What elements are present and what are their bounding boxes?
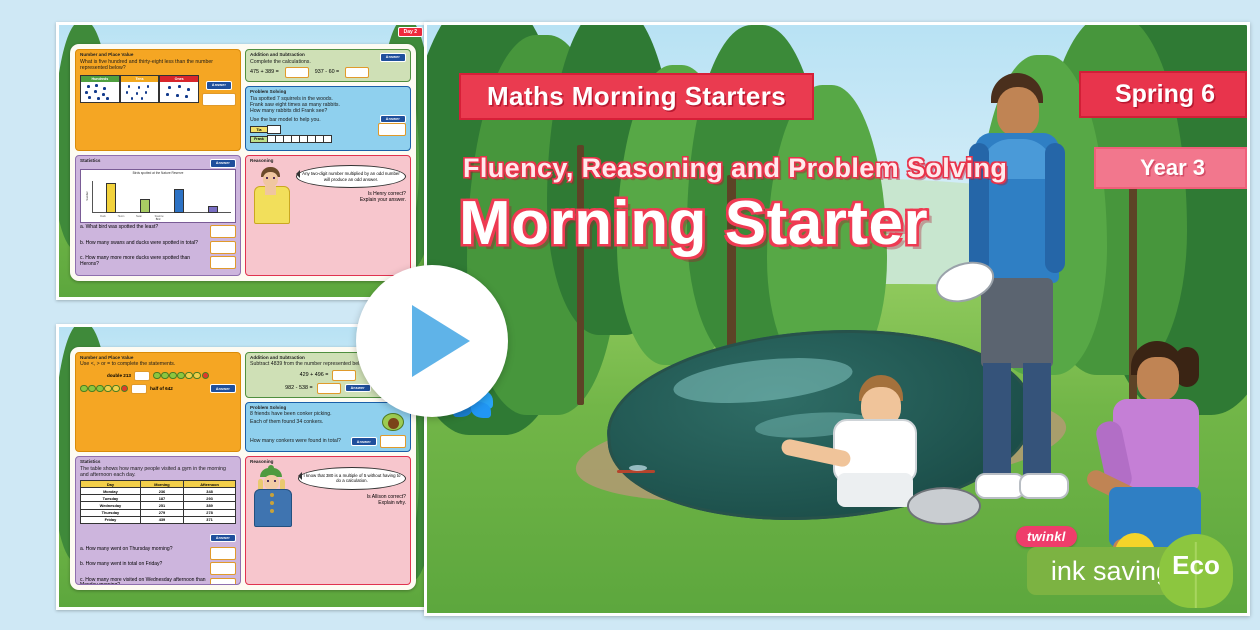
eco-badge-label: Eco — [1159, 534, 1233, 608]
badge-year: Year 3 — [1094, 147, 1247, 189]
cell-day: Monday — [81, 488, 141, 495]
stats-question-a: a. How many went on Thursday morning? — [80, 547, 207, 553]
panel-statistics-1[interactable]: Statistics Answer Birds spotted at the N… — [75, 155, 241, 276]
cell-afternoon: 293 — [184, 495, 236, 502]
calculation-1: 475 + 389 = — [250, 69, 279, 75]
stats-question-c: c. How many more more ducks were spotted… — [80, 256, 207, 268]
cell-morning: 251 — [140, 502, 183, 509]
chart-title: Birds spotted at the Nature Reserve — [81, 170, 235, 175]
panel-title: Problem Solving — [250, 90, 406, 95]
cell-day: Thursday — [81, 509, 141, 516]
answer-button[interactable]: Answer — [210, 159, 236, 168]
cell-day: Friday — [81, 516, 141, 523]
cell-afternoon: 389 — [184, 502, 236, 509]
hero-band: Maths Morning Starters — [459, 73, 814, 120]
table-row: Friday 439 371 — [81, 516, 236, 523]
badge-year-label: Year 3 — [1140, 155, 1205, 180]
hero-subtitle: Fluency, Reasoning and Problem Solving — [463, 153, 1007, 184]
ps-line-2: Each of them found 34 conkers. — [250, 419, 380, 425]
badge-term-label: Spring 6 — [1115, 80, 1215, 108]
ps-answer-field[interactable] — [378, 123, 406, 136]
panel-reasoning-2[interactable]: Reasoning — [245, 456, 411, 585]
cell-day: Tuesday — [81, 495, 141, 502]
stats-question-c: c. How many more visited on Wednesday af… — [80, 578, 207, 586]
panel-addition-subtraction-1[interactable]: Addition and Subtraction Complete the ca… — [245, 49, 411, 82]
cell-morning: 187 — [140, 495, 183, 502]
table-row: Thursday 279 278 — [81, 509, 236, 516]
stats-answer-b[interactable] — [210, 241, 236, 254]
chart-ylabel: Number — [86, 191, 89, 200]
answer-button[interactable]: Answer — [210, 534, 236, 543]
cell-morning: 279 — [140, 509, 183, 516]
stats-question: The table shows how many people visited … — [80, 466, 236, 479]
panel-problem-solving-2[interactable]: Problem Solving 8 friends have been conk… — [245, 402, 411, 453]
speech-bubble: Any two-digit number multiplied by an od… — [296, 165, 406, 188]
chart-xlabel: Bird — [81, 218, 235, 221]
panel-problem-solving-1[interactable]: Problem Solving Tia spotted 7 squirrels … — [245, 86, 411, 151]
eco-text: ink saving — [1051, 556, 1171, 587]
ps-line-1: 8 friends have been conker picking. — [250, 411, 380, 417]
dragonfly-icon — [617, 465, 657, 479]
statement-left-label: double 213 — [107, 373, 131, 378]
addsub-instruction: Complete the calculations. — [250, 59, 380, 65]
cell-day: Wednesday — [81, 502, 141, 509]
answer-button[interactable]: Answer — [380, 115, 406, 124]
bar-model: Tia Frank — [250, 125, 332, 144]
panel-title: Number and Place Value — [80, 53, 236, 58]
gym-visitors-table: Day Morning Afternoon Monday 236 348 Tue… — [80, 480, 236, 524]
table-row: Wednesday 251 389 — [81, 502, 236, 509]
bar-label-tia: Tia — [250, 126, 268, 133]
stats-question-b: b. How many went in total on Friday? — [80, 562, 207, 568]
conker-illustration — [380, 411, 406, 433]
col-morning: Morning — [140, 480, 183, 487]
answer-button[interactable]: Answer — [380, 53, 406, 62]
panel-number-place-value-1[interactable]: Number and Place Value What is five hund… — [75, 49, 241, 151]
hero-slide-preview[interactable]: Maths Morning Starters Fluency, Reasonin… — [424, 22, 1250, 616]
hero-band-label: Maths Morning Starters — [487, 81, 786, 111]
play-triangle-icon — [412, 305, 470, 377]
panel-title: Problem Solving — [250, 406, 406, 411]
leaf-icon: Eco — [1159, 534, 1233, 608]
bead-string-bottom — [80, 385, 128, 393]
calculation-1: 429 + 496 = — [300, 372, 329, 378]
bar-swan — [174, 189, 184, 213]
panel-number-place-value-2[interactable]: Number and Place Value Use <, > or = to … — [75, 352, 241, 453]
stats-answer-b[interactable] — [210, 562, 236, 575]
answer-button[interactable]: Answer — [210, 384, 236, 393]
bar-heron — [140, 199, 150, 213]
stats-question-b: b. How many swans and ducks were spotted… — [80, 241, 207, 247]
col-day: Day — [81, 480, 141, 487]
stats-answer-a[interactable] — [210, 547, 236, 560]
cell-morning: 439 — [140, 516, 183, 523]
ps-line-4: Use the bar model to help you. — [250, 117, 380, 123]
play-button[interactable] — [356, 265, 508, 417]
character-standing-boy — [947, 73, 1087, 553]
npv-compare-field-1[interactable] — [134, 371, 150, 381]
slide-1-card[interactable]: Number and Place Value What is five hund… — [70, 44, 416, 281]
badge-term: Spring 6 — [1079, 71, 1247, 118]
place-value-column-tens: Tens — [120, 75, 160, 103]
panel-statistics-2[interactable]: Statistics The table shows how many peop… — [75, 456, 241, 585]
calc-answer-field-2[interactable] — [345, 67, 369, 78]
ps-answer-field[interactable] — [380, 435, 406, 448]
panel-title: Addition and Subtraction — [250, 53, 380, 58]
calculation-2: 937 - 60 = — [315, 69, 339, 75]
npv-question: What is five hundred and thirty-eight le… — [80, 59, 236, 72]
bar-chart: Birds spotted at the Nature Reserve Numb… — [80, 169, 236, 223]
stats-answer-c[interactable] — [210, 578, 236, 586]
day-badge-1: Day 2 — [398, 27, 423, 37]
answer-button[interactable]: Answer — [345, 384, 371, 393]
cell-afternoon: 278 — [184, 509, 236, 516]
answer-button[interactable]: Answer — [351, 437, 377, 446]
chart-bars — [94, 182, 230, 213]
calc-answer-field-1[interactable] — [332, 370, 356, 381]
npv-answer-field[interactable] — [202, 93, 236, 106]
npv-question: Use <, > or = to complete the statements… — [80, 361, 236, 367]
npv-compare-field-2[interactable] — [131, 384, 147, 394]
character-henry-illustration — [250, 165, 292, 188]
bar-duck — [106, 183, 116, 212]
ps-line-3: How many conkers were found in total? — [250, 438, 348, 444]
panel-title: Statistics — [80, 159, 100, 164]
slide-thumbnail-1[interactable]: Day 2 Number and Place Value What is fiv… — [56, 22, 430, 300]
calc-answer-field-2[interactable] — [317, 383, 341, 394]
stats-question-a: a. What bird was spotted the least? — [80, 225, 207, 231]
hero-title: Morning Starter — [459, 188, 928, 259]
cell-morning: 236 — [140, 488, 183, 495]
stats-answer-c[interactable] — [210, 256, 236, 269]
panel-title: Reasoning — [250, 460, 406, 465]
bar-sparrow — [208, 206, 218, 213]
screenshot-root: Day 2 Number and Place Value What is fiv… — [0, 0, 1260, 630]
rock — [907, 487, 981, 525]
table-row: Tuesday 187 293 — [81, 495, 236, 502]
stats-answer-a[interactable] — [210, 225, 236, 238]
panel-title: Number and Place Value — [80, 356, 236, 361]
character-allison-illustration — [250, 467, 294, 490]
cell-afternoon: 371 — [184, 516, 236, 523]
calculation-2: 982 - 538 = — [285, 385, 312, 391]
calc-answer-field-1[interactable] — [285, 67, 309, 78]
panel-reasoning-1[interactable]: Reasoning Any two-digit number multiplie… — [245, 155, 411, 276]
place-value-column-hundreds: Hundreds — [80, 75, 120, 103]
statement-right-label: half of 642 — [150, 386, 173, 391]
panel-title: Reasoning — [250, 159, 406, 164]
slide-2-card[interactable]: Number and Place Value Use <, > or = to … — [70, 347, 416, 591]
place-value-column-ones: Ones — [159, 75, 199, 103]
speech-bubble: I know that 380 is a multiple of 5 witho… — [298, 467, 406, 490]
col-afternoon: Afternoon — [184, 480, 236, 487]
bar-label-frank: Frank — [250, 136, 268, 143]
eco-badge: ink saving Eco — [1027, 547, 1233, 595]
panel-title: Statistics — [80, 460, 236, 465]
twinkl-logo: twinkl — [1016, 526, 1077, 547]
bead-string-top — [153, 372, 209, 380]
cell-afternoon: 348 — [184, 488, 236, 495]
answer-button[interactable]: Answer — [206, 81, 232, 90]
table-row: Monday 236 348 — [81, 488, 236, 495]
